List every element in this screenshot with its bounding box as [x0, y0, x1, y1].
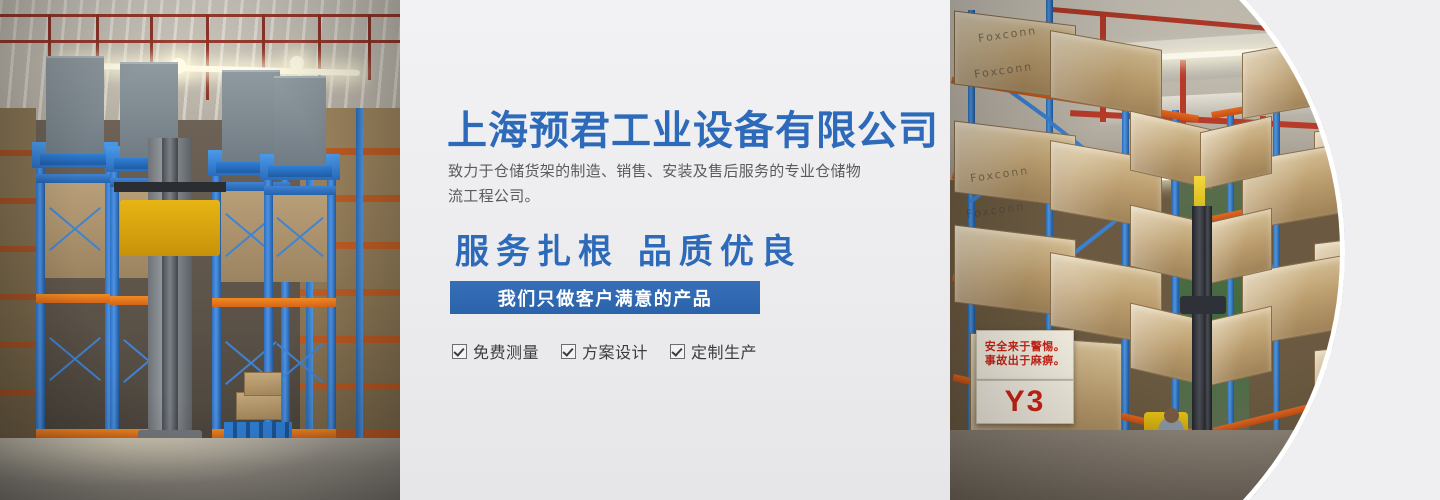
hero-banner: D-07 D-06 D-05	[0, 0, 1440, 500]
cta-banner-button[interactable]: 我们只做客户满意的产品	[450, 281, 760, 314]
feature-list: 免费测量 方案设计 定制生产	[452, 339, 757, 363]
checkbox-checked-icon	[452, 344, 467, 359]
banner-content: 上海预君工业设备有限公司 致力于仓储货架的制造、销售、安装及售后服务的专业仓储物…	[447, 0, 917, 500]
feature-item-plan-design: 方案设计	[561, 339, 648, 363]
photo-vignette	[0, 0, 400, 500]
checkbox-checked-icon	[670, 344, 685, 359]
feature-item-free-measure: 免费测量	[452, 339, 539, 363]
company-description: 致力于仓储货架的制造、销售、安装及售后服务的专业仓储物流工程公司。	[448, 160, 868, 210]
company-slogan: 服务扎根 品质优良	[455, 224, 802, 273]
left-warehouse-photo: D-07 D-06 D-05	[0, 0, 400, 500]
company-title: 上海预君工业设备有限公司	[447, 98, 939, 156]
checkbox-checked-icon	[561, 344, 576, 359]
right-warehouse-photo: Foxconn Foxconn Foxconn Foxconn	[950, 0, 1440, 500]
feature-label: 免费测量	[473, 339, 539, 363]
feature-item-custom-production: 定制生产	[670, 339, 757, 363]
feature-label: 方案设计	[582, 339, 648, 363]
photo-vignette	[950, 0, 1440, 500]
feature-label: 定制生产	[691, 339, 757, 363]
